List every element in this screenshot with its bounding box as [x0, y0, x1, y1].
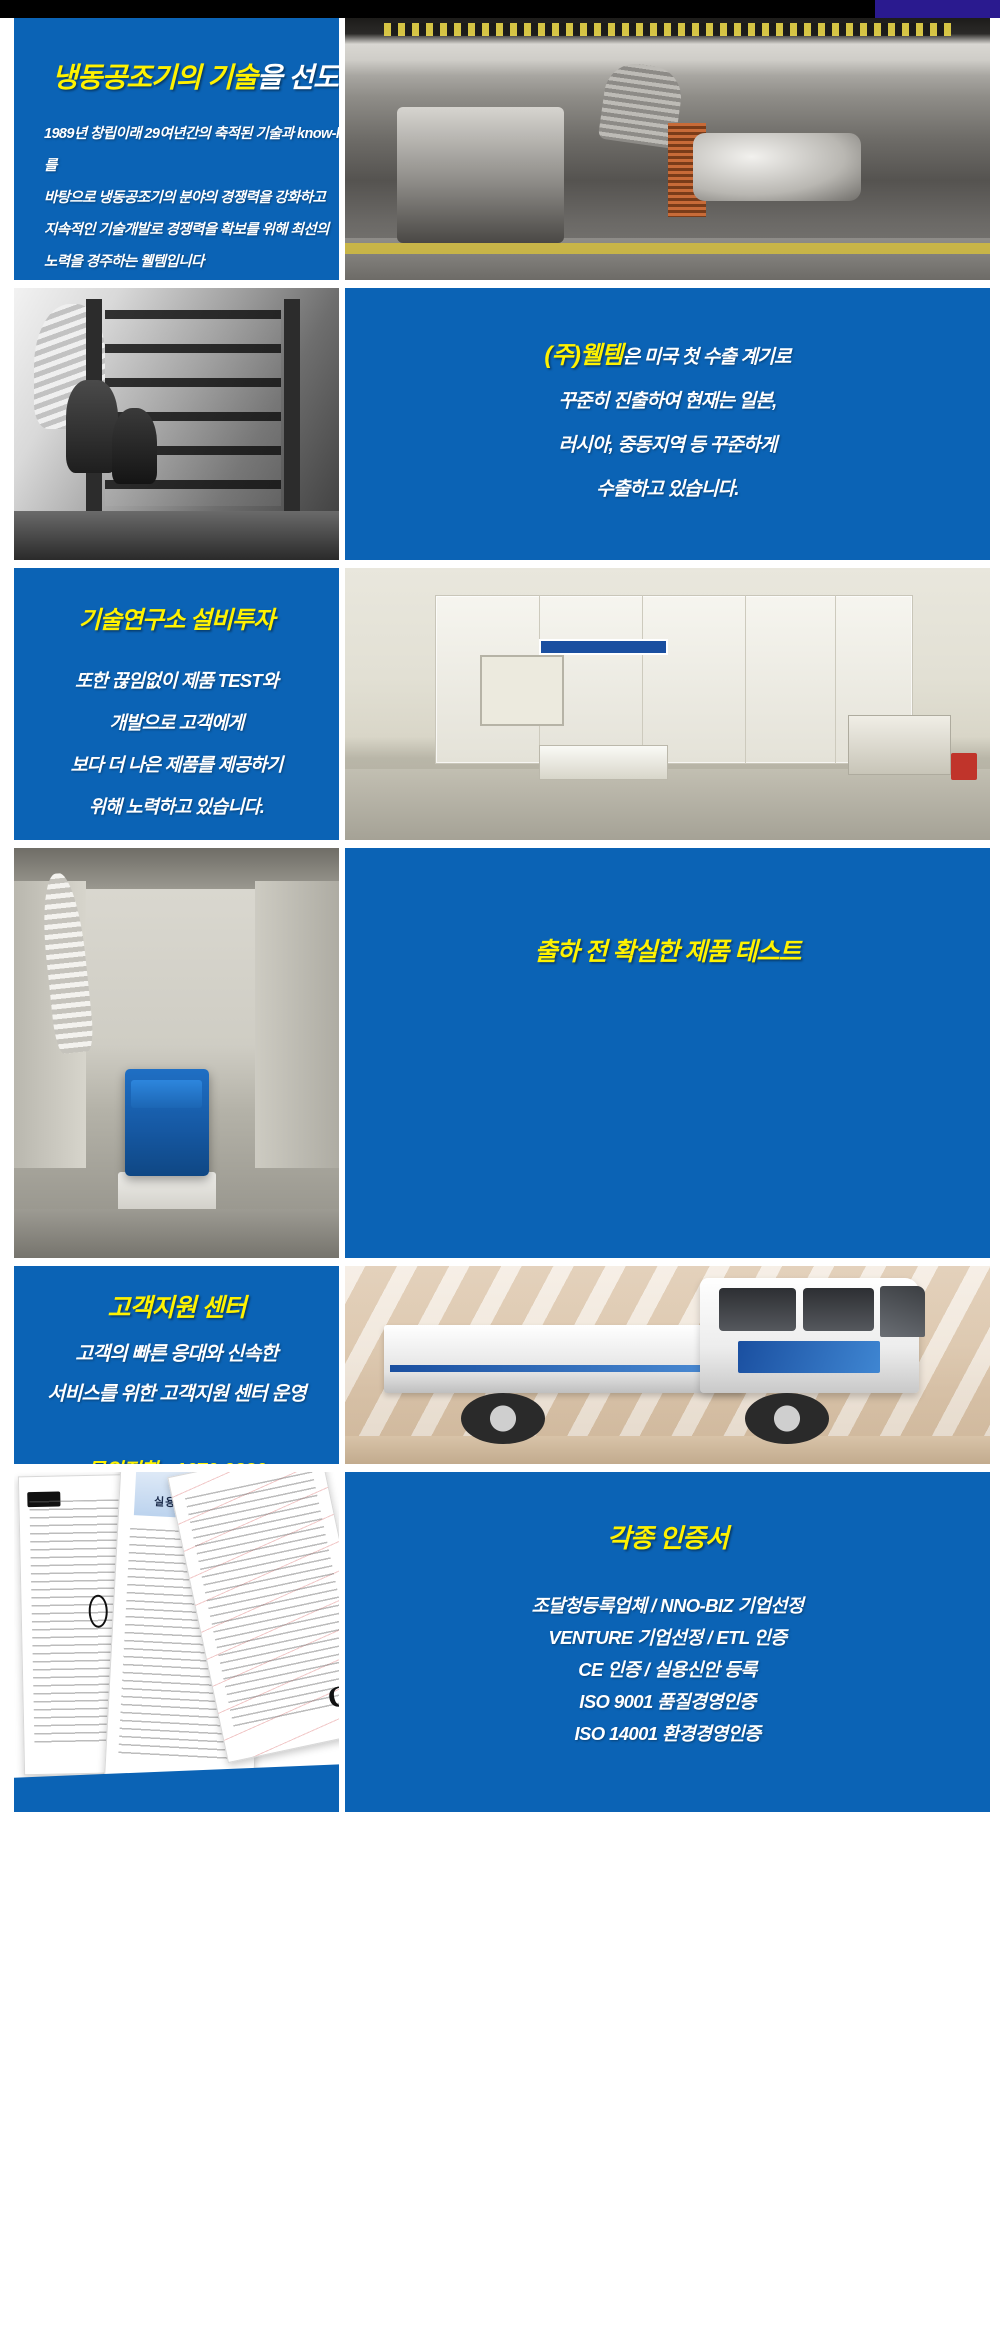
- section5-heading: 고객지원 센터: [14, 1288, 339, 1324]
- section1-photo-factory: [345, 18, 990, 280]
- coldroom-control-unit: [848, 715, 951, 775]
- section3-heading: 기술연구소 설비투자: [14, 600, 339, 635]
- section1-body-line: 지속적인 기술개발로 경쟁력을 확보를 위해 최선의: [44, 214, 339, 246]
- section2-text-panel: (주)웰템은 미국 첫 수출 계기로 꾸준히 진출하여 현재는 일본, 러시아,…: [345, 288, 990, 560]
- truck-ground: [345, 1436, 990, 1464]
- section2-body-line-rest: 은 미국 첫 수출 계기로: [623, 347, 791, 368]
- section3-body: 또한 끊임없이 제품 TEST와 개발으로 고객에게 보다 더 나은 제품를 제…: [14, 660, 339, 828]
- truck-windshield: [880, 1286, 925, 1337]
- section1-text-panel: 냉동공조기의 기술을 선도하는 기업 1989년 창립이래 29여년간의 축적된…: [14, 18, 339, 280]
- testroom-blue-cooling-unit: [125, 1069, 210, 1176]
- workshop-worker: [66, 380, 118, 472]
- section3-body-line: 개발으로 고객에게: [14, 702, 339, 744]
- factory-drum: [693, 133, 861, 201]
- section1-body-line: 1989년 창립이래 29여년간의 축적된 기술과 know-how를: [44, 118, 339, 182]
- top-accent-block: [875, 0, 1000, 18]
- section6-heading: 각종 인증서: [345, 1518, 990, 1555]
- section4-photo-testroom: [14, 848, 339, 1258]
- section3-photo-coldroom: [345, 568, 990, 840]
- section1-title-highlight: 냉동공조기의 기술: [52, 62, 257, 93]
- truck-wheel: [745, 1393, 829, 1444]
- section6-body: 조달청등록업체 / NNO-BIZ 기업선정 VENTURE 기업선정 / ET…: [345, 1590, 990, 1750]
- section2-body-line: 꾸준히 진출하여 현재는 일본,: [345, 380, 990, 424]
- section5-text-panel: 고객지원 센터 고객의 빠른 응대와 신속한 서비스를 위한 고객지원 센터 운…: [14, 1266, 339, 1464]
- certification-item: VENTURE 기업선정 / ETL 인증: [345, 1622, 990, 1654]
- section3-text-panel: 기술연구소 설비투자 또한 끊임없이 제품 TEST와 개발으로 고객에게 보다…: [14, 568, 339, 840]
- top-black-bar: [0, 0, 1000, 18]
- truck-stripe: [390, 1365, 738, 1372]
- section3-body-line: 또한 끊임없이 제품 TEST와: [14, 660, 339, 702]
- section2-body-line: 수출하고 있습니다.: [345, 468, 990, 512]
- section2-body: (주)웰템은 미국 첫 수출 계기로 꾸준히 진출하여 현재는 일본, 러시아,…: [345, 334, 990, 512]
- section1-body-line: 바탕으로 냉동공조기의 분야의 경쟁력을 강화하고: [44, 182, 339, 214]
- coldroom-door: [480, 655, 564, 726]
- section2-body-line-1: (주)웰템은 미국 첫 수출 계기로: [345, 334, 990, 380]
- truck-window: [719, 1288, 796, 1332]
- phone-number[interactable]: 1670-9220: [175, 1460, 266, 1464]
- workshop-floor: [14, 511, 339, 560]
- workshop-photo-art: [14, 288, 339, 560]
- testroom-wall-right: [255, 881, 340, 1168]
- truck-photo-art: [345, 1266, 990, 1464]
- factory-floor-line: [345, 243, 990, 253]
- section1-title-rest: 을 선도하는 기업: [257, 62, 339, 93]
- section5-photo-truck: [345, 1266, 990, 1464]
- coldroom-floor: [345, 769, 990, 840]
- truck-wheel: [461, 1393, 545, 1444]
- fire-extinguisher: [951, 753, 977, 780]
- section3-body-line: 보다 더 나은 제품를 제공하기: [14, 744, 339, 786]
- truck-window: [803, 1288, 874, 1332]
- phone-label: 문의전화 :: [87, 1460, 175, 1464]
- section5-phone: 문의전화 : 1670-9220: [14, 1454, 339, 1464]
- certification-item: CE 인증 / 실용신안 등록: [345, 1654, 990, 1686]
- section3-body-line: 위해 노력하고 있습니다.: [14, 786, 339, 828]
- coldroom-equipment-box: [539, 745, 668, 780]
- section5-body-line: 고객의 빠른 응대와 신속한: [14, 1334, 339, 1374]
- section5-body: 고객의 빠른 응대와 신속한 서비스를 위한 고객지원 센터 운영: [14, 1334, 339, 1414]
- section2-body-line: 러시아, 중동지역 등 꾸준하게: [345, 424, 990, 468]
- testroom-floor: [14, 1209, 339, 1258]
- coldroom-panel-seam: [642, 595, 643, 764]
- section6-photo-certificates: 실용신안등록 CE: [14, 1472, 339, 1812]
- testroom-photo-art: [14, 848, 339, 1258]
- certification-item: ISO 9001 품질경영인증: [345, 1686, 990, 1718]
- section6-text-panel: 각종 인증서 조달청등록업체 / NNO-BIZ 기업선정 VENTURE 기업…: [345, 1472, 990, 1812]
- certificates-photo-art: 실용신안등록 CE: [14, 1472, 339, 1812]
- section1-body: 1989년 창립이래 29여년간의 축적된 기술과 know-how를 바탕으로…: [44, 118, 339, 278]
- coldroom-panel-seam: [745, 595, 746, 764]
- certification-item: 조달청등록업체 / NNO-BIZ 기업선정: [345, 1590, 990, 1622]
- section1-title: 냉동공조기의 기술을 선도하는 기업: [52, 56, 339, 96]
- coldroom-panel-seam: [835, 595, 836, 764]
- section2-photo-workshop: [14, 288, 339, 560]
- truck-cargo-bed: [384, 1325, 745, 1392]
- truck-company-decal: [738, 1341, 880, 1373]
- workshop-worker: [112, 408, 158, 484]
- certification-item: ISO 14001 환경경영인증: [345, 1718, 990, 1750]
- coldroom-sign: [539, 639, 668, 655]
- coldroom-photo-art: [345, 568, 990, 840]
- section2-company-highlight: (주)웰템: [544, 342, 622, 369]
- section5-body-line: 서비스를 위한 고객지원 센터 운영: [14, 1374, 339, 1414]
- factory-photo-art: [345, 18, 990, 280]
- section4-heading: 출하 전 확실한 제품 테스트: [345, 932, 990, 968]
- section1-body-line: 노력을 경주하는 웰템입니다: [44, 246, 339, 278]
- section4-text-panel: 출하 전 확실한 제품 테스트: [345, 848, 990, 1258]
- promo-page: 냉동공조기의 기술을 선도하는 기업 1989년 창립이래 29여년간의 축적된…: [0, 0, 1000, 2333]
